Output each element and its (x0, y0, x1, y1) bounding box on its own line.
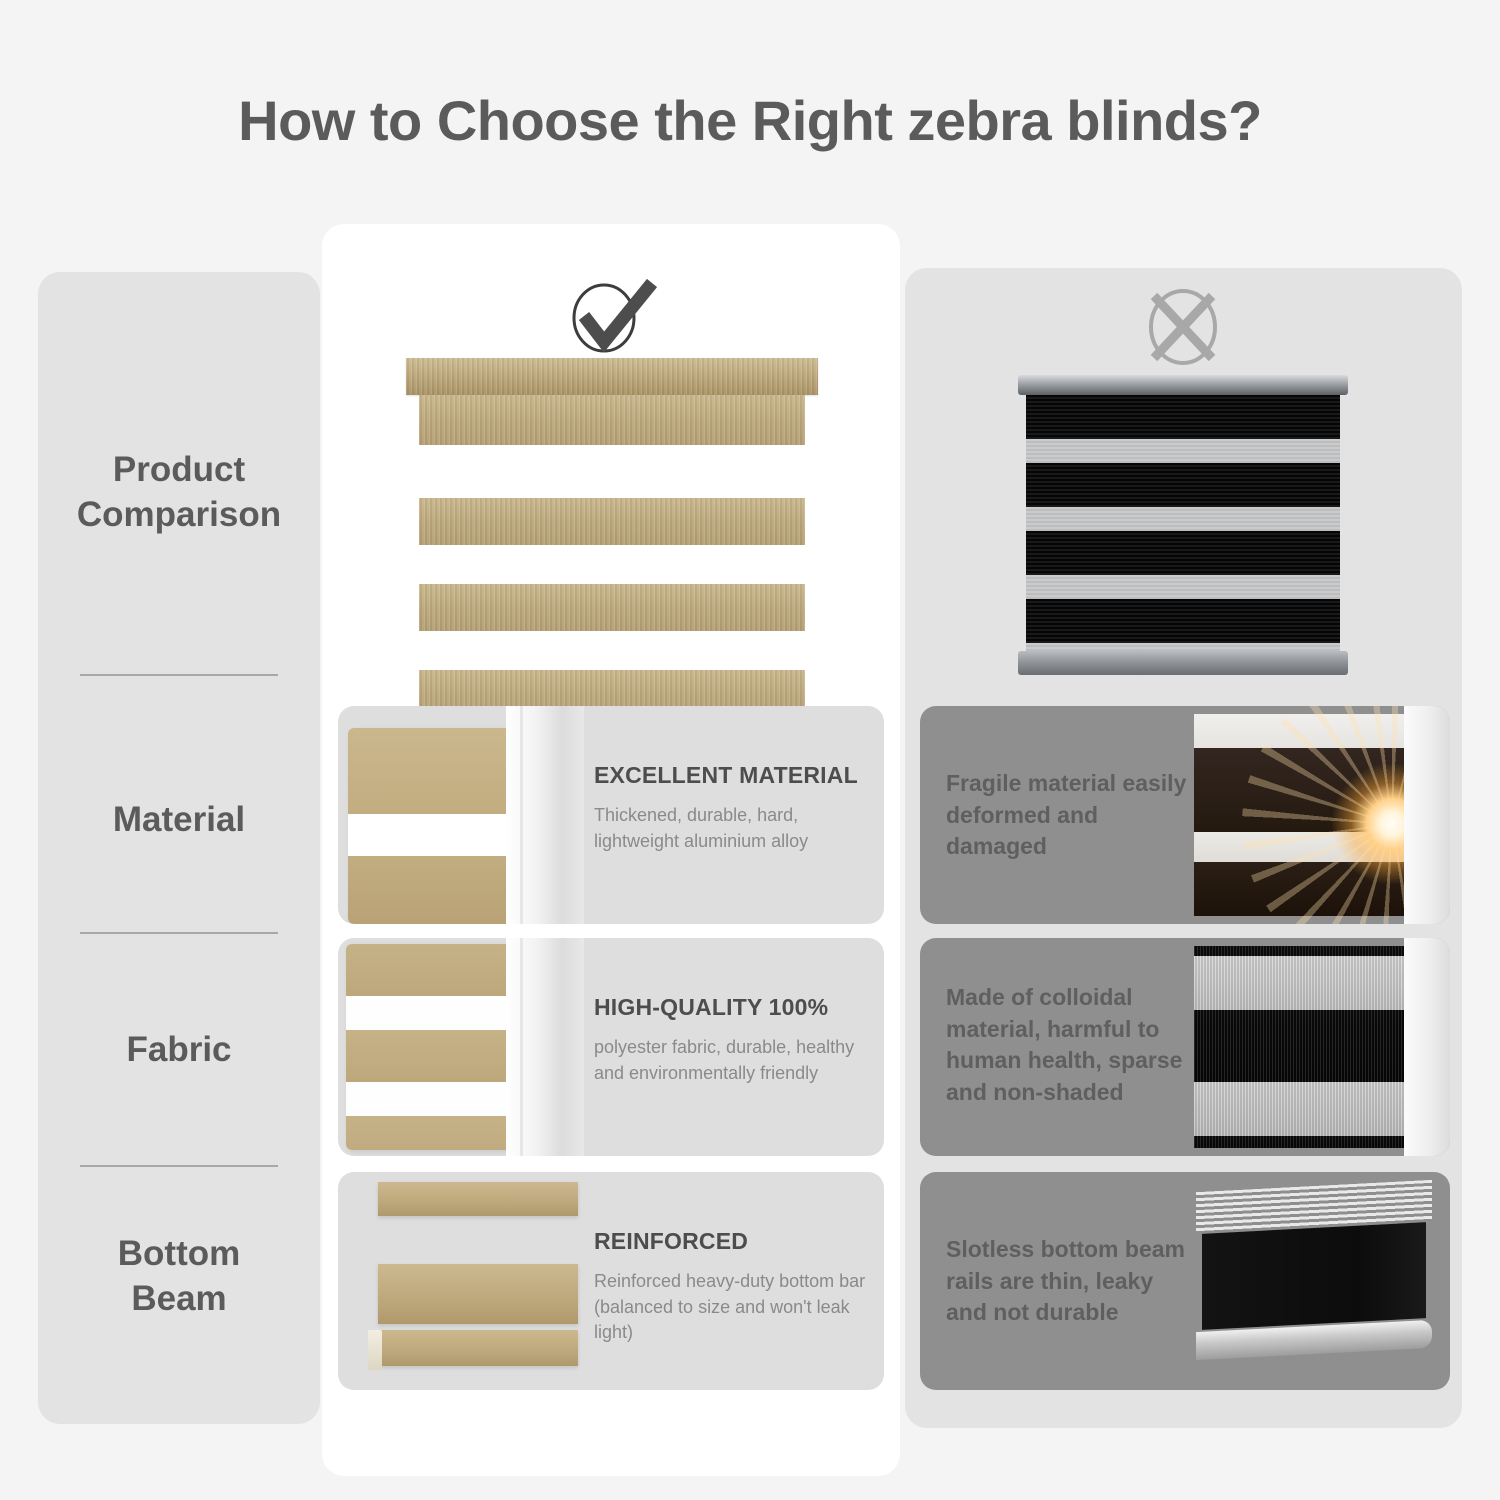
sheer-fabric-close-up (1194, 946, 1426, 1148)
feature-heading: HIGH-QUALITY 100% (594, 994, 866, 1021)
feature-text: HIGH-QUALITY 100% polyester fabric, dura… (594, 994, 866, 1086)
material-photo (1182, 706, 1450, 924)
bottom-beam-photo (338, 1172, 584, 1390)
fabric-band (419, 395, 805, 445)
bottom-bar (1018, 651, 1348, 675)
feature-text: Made of colloidal material, harmful to h… (946, 982, 1196, 1109)
feature-card-fabric-good: HIGH-QUALITY 100% polyester fabric, dura… (338, 938, 884, 1156)
bottom-beam-photo (1182, 1172, 1450, 1390)
row-label-product-comparison: Product Comparison (38, 448, 320, 538)
window-frame (1404, 706, 1450, 924)
feature-body: polyester fabric, durable, healthy and e… (594, 1035, 866, 1086)
cross-circle-icon (1128, 282, 1238, 372)
feature-text: Slotless bottom beam rails are thin, lea… (946, 1234, 1196, 1329)
feature-heading: REINFORCED (594, 1228, 866, 1255)
headrail (406, 358, 818, 395)
row-label-fabric: Fabric (38, 1028, 320, 1073)
sheer-texture (1026, 395, 1340, 651)
good-product-image (406, 358, 818, 698)
blind-close-up (348, 728, 530, 924)
window-frame (1404, 938, 1450, 1156)
feature-card-bottom-beam-good: REINFORCED Reinforced heavy-duty bottom … (338, 1172, 884, 1390)
feature-body: Reinforced heavy-duty bottom bar (balanc… (594, 1269, 866, 1346)
fabric-band (378, 1264, 578, 1324)
feature-heading: EXCELLENT MATERIAL (594, 762, 866, 789)
bottom-beam-close-up (356, 1182, 578, 1380)
feature-card-material-bad: Fragile material easily deformed and dam… (920, 706, 1450, 924)
feature-text: REINFORCED Reinforced heavy-duty bottom … (594, 1228, 866, 1346)
check-circle-icon (556, 268, 666, 358)
wood-grain-texture (406, 358, 818, 395)
wood-grain-texture (419, 498, 805, 545)
wood-grain-texture (419, 584, 805, 631)
feature-card-material-good: EXCELLENT MATERIAL Thickened, durable, h… (338, 706, 884, 924)
fabric-band (419, 584, 805, 631)
fabric-photo (338, 938, 584, 1156)
row-divider (80, 1165, 278, 1167)
feature-text: Fragile material easily deformed and dam… (946, 768, 1196, 863)
dark-fabric-band (1202, 1222, 1426, 1330)
fabric-band (378, 1182, 578, 1216)
feature-text: EXCELLENT MATERIAL Thickened, durable, h… (594, 762, 866, 854)
bad-product-image (1018, 375, 1348, 675)
fabric-band (419, 498, 805, 545)
window-frame (506, 938, 584, 1156)
headrail (1018, 375, 1348, 395)
feature-card-bottom-beam-bad: Slotless bottom beam rails are thin, lea… (920, 1172, 1450, 1390)
page-title: How to Choose the Right zebra blinds? (0, 88, 1500, 153)
material-photo (338, 706, 584, 924)
thin-bottom-rail-close-up (1196, 1186, 1432, 1376)
row-label-bottom-beam: Bottom Beam (38, 1232, 320, 1322)
wood-grain-texture (419, 395, 805, 445)
row-divider (80, 932, 278, 934)
row-divider (80, 674, 278, 676)
feature-body: Thickened, durable, hard, lightweight al… (594, 803, 866, 854)
row-label-material: Material (38, 798, 320, 843)
bottom-bar-end-cap (368, 1330, 382, 1370)
fabric-photo (1182, 938, 1450, 1156)
zebra-fabric (1026, 395, 1340, 651)
bottom-bar (378, 1330, 578, 1366)
light-leak-window (1194, 714, 1426, 916)
window-frame (506, 706, 584, 924)
feature-card-fabric-bad: Made of colloidal material, harmful to h… (920, 938, 1450, 1156)
